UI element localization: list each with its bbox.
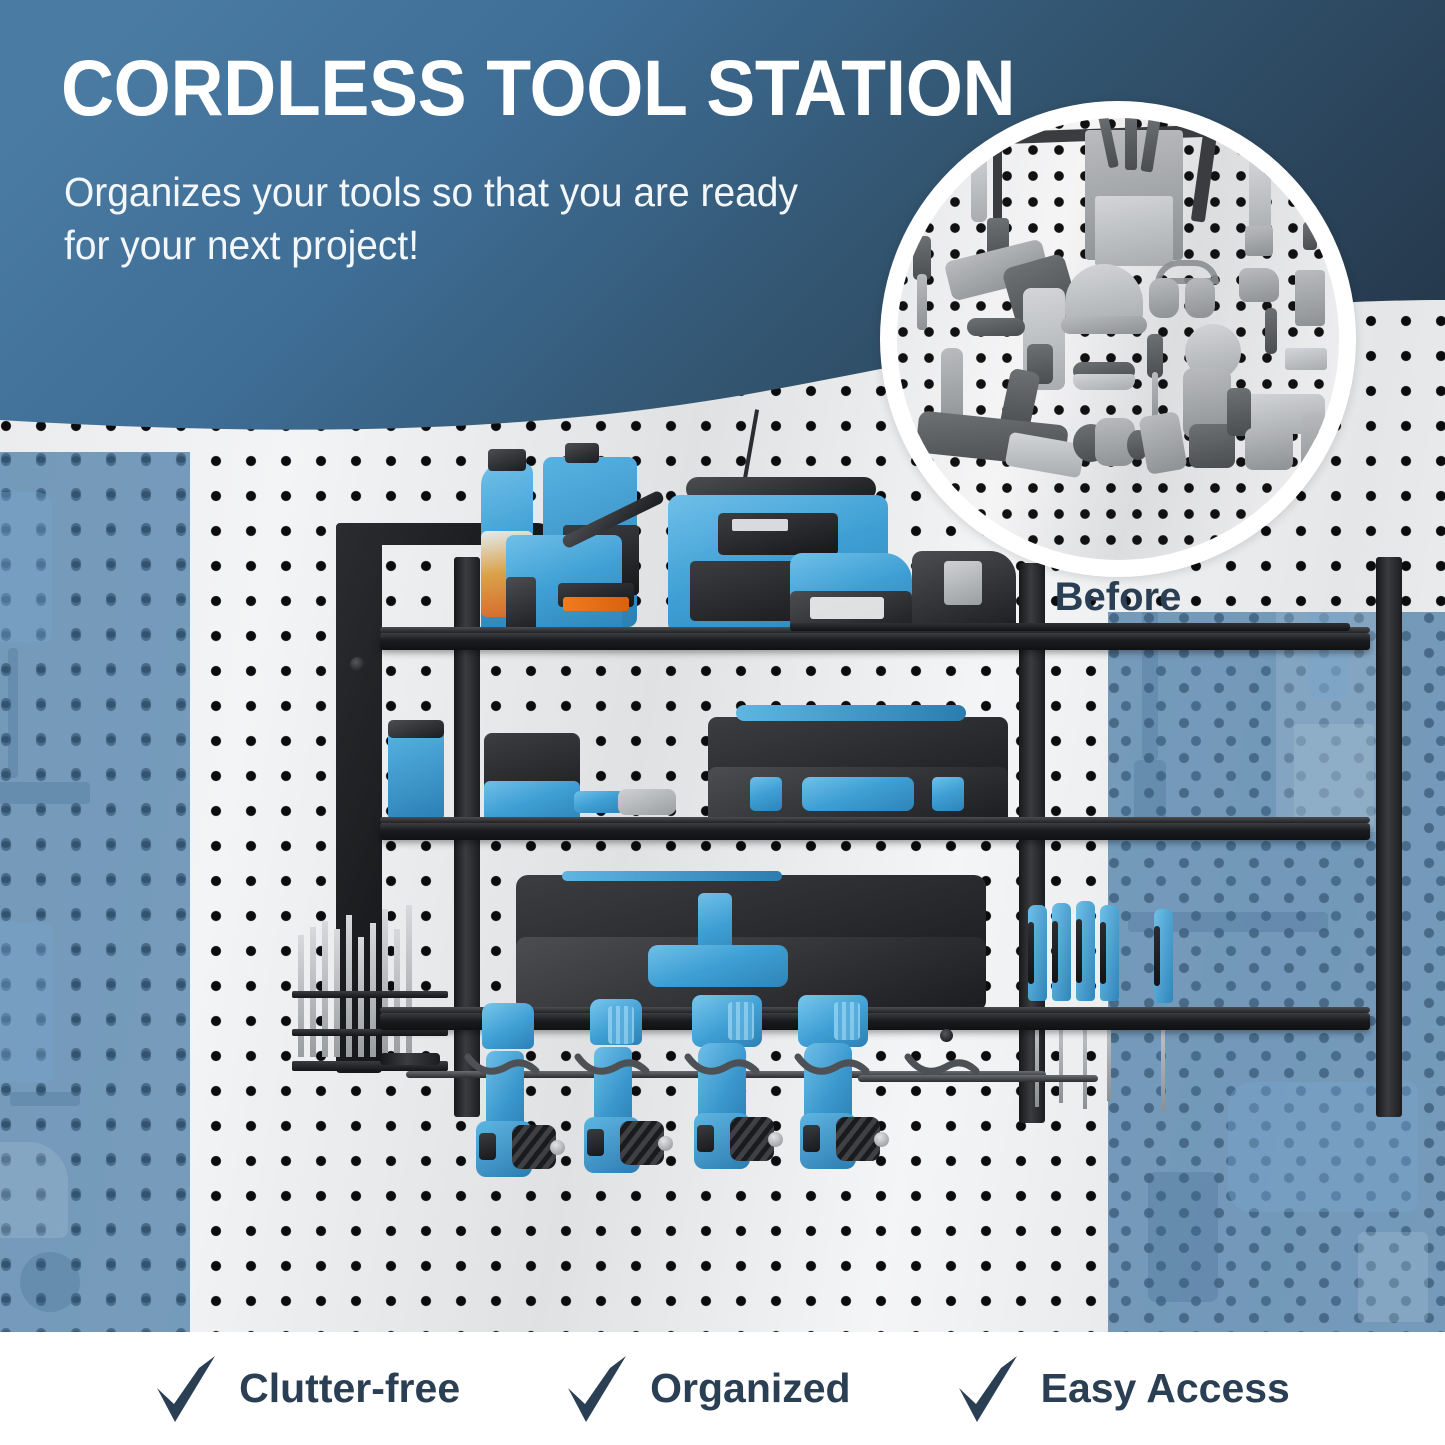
basket-rail: [292, 991, 448, 998]
ghost-bar-icon: [0, 782, 90, 804]
check-icon: [566, 1354, 628, 1424]
chisel-tip-icon: [1245, 226, 1273, 256]
hex-key-set-icon: [1295, 270, 1325, 326]
ghost-disc-icon: [20, 1252, 80, 1312]
drill-hook-loops: [438, 1053, 1078, 1097]
utility-knife-icon: [1138, 411, 1187, 475]
rack-shelf-middle: [380, 823, 1370, 840]
screwdriver-handle: [1052, 903, 1071, 1001]
basket-rail: [292, 1029, 448, 1036]
pliers-icon: [1301, 412, 1323, 482]
belt-strap-icon: [1191, 131, 1217, 222]
tool-box-handle: [648, 945, 788, 987]
feature-item: Easy Access: [957, 1354, 1290, 1424]
ghost-hammer-icon: [0, 1142, 68, 1238]
bit-holder-basket: [296, 903, 442, 1063]
page-title: CORDLESS TOOL STATION: [61, 46, 1015, 130]
rack-shelf-top-back-rail: [790, 623, 1350, 631]
before-inset: [880, 101, 1356, 577]
ratchet-head: [618, 789, 676, 815]
screwdriver-handle: [1028, 905, 1047, 1001]
left-tinted-panel: [0, 452, 190, 1445]
screwdriver-handle: [1100, 905, 1119, 1001]
screwdriver-icon: [1265, 308, 1277, 354]
tool-box-top-trim: [562, 871, 782, 881]
wall-mount-hole: [350, 657, 365, 672]
feature-label: Clutter-free: [239, 1365, 460, 1412]
drill-aux-handle-icon: [967, 318, 1025, 336]
square-icon: [1285, 348, 1327, 370]
ghost-pouch-pocket-icon: [1294, 724, 1374, 828]
tool-case-top-accessories: [736, 705, 966, 721]
ghost-drill-icon: [0, 922, 54, 1082]
tape-measure-brand-plate: [810, 597, 884, 619]
ratchet-handle: [574, 791, 624, 813]
ghost-rod-icon: [8, 648, 18, 778]
cord-reel-spool: [388, 730, 444, 820]
shelf-mount-hole: [940, 1029, 953, 1042]
tool-head-icon: [967, 136, 995, 152]
screwdriver-shaft-icon: [1152, 372, 1158, 420]
feature-label: Easy Access: [1041, 1365, 1290, 1412]
ear-muff-icon: [1185, 278, 1215, 318]
screwdriver-handle: [1154, 909, 1173, 1003]
chisel-icon: [971, 144, 987, 222]
tool-case-latch: [750, 777, 782, 811]
ghost-box-icon: [1148, 1172, 1218, 1302]
screwdriver-bit: [322, 921, 328, 1057]
rack-shelf-middle-lip: [380, 817, 1370, 823]
screwdriver-shaft: [1161, 1017, 1165, 1111]
small-tool-icon: [1303, 222, 1317, 250]
rack-shelf-top: [380, 633, 1370, 650]
tool-case-handle: [802, 777, 914, 811]
check-icon: [155, 1354, 217, 1424]
feature-bar: Clutter-free Organized Easy Access: [0, 1332, 1445, 1445]
hard-hat-brim-icon: [1061, 316, 1147, 334]
staple-gun-stripe: [563, 597, 629, 611]
feature-item: Clutter-free: [155, 1354, 460, 1424]
feature-item: Organized: [566, 1354, 850, 1424]
cord-reel-top: [388, 720, 444, 738]
screwdriver-handle: [1076, 901, 1095, 1001]
before-pegboard-photo: [897, 118, 1339, 560]
heat-gun-grip-icon: [1245, 428, 1293, 470]
page-subtitle: Organizes your tools so that you are rea…: [64, 166, 853, 272]
infographic-canvas: CORDLESS TOOL STATION Organizes your too…: [0, 0, 1445, 1445]
tape-measure-icon: [1239, 268, 1279, 302]
radio-display: [732, 519, 788, 531]
tool-case-latch: [932, 777, 964, 811]
rack-front-post-right-hidden: [1376, 557, 1402, 1117]
check-icon: [957, 1354, 1019, 1424]
ear-muff-icon: [1149, 278, 1179, 318]
ghost-drill-icon: [0, 492, 52, 642]
feature-label: Organized: [650, 1365, 850, 1412]
pouch-pocket-icon: [1095, 196, 1173, 266]
ghost-bar-icon: [10, 1092, 80, 1106]
rack-bottom-left-bracket: [380, 1053, 440, 1065]
before-label: Before: [880, 575, 1356, 620]
screwdriver-icon: [1125, 118, 1137, 170]
screwdriver-shaft: [1083, 1017, 1087, 1109]
screwdriver-bit: [370, 923, 376, 1057]
driver-shaft-icon: [917, 274, 927, 330]
safety-glasses-lens-icon: [1073, 374, 1135, 390]
ghost-case-icon: [1358, 1232, 1428, 1322]
